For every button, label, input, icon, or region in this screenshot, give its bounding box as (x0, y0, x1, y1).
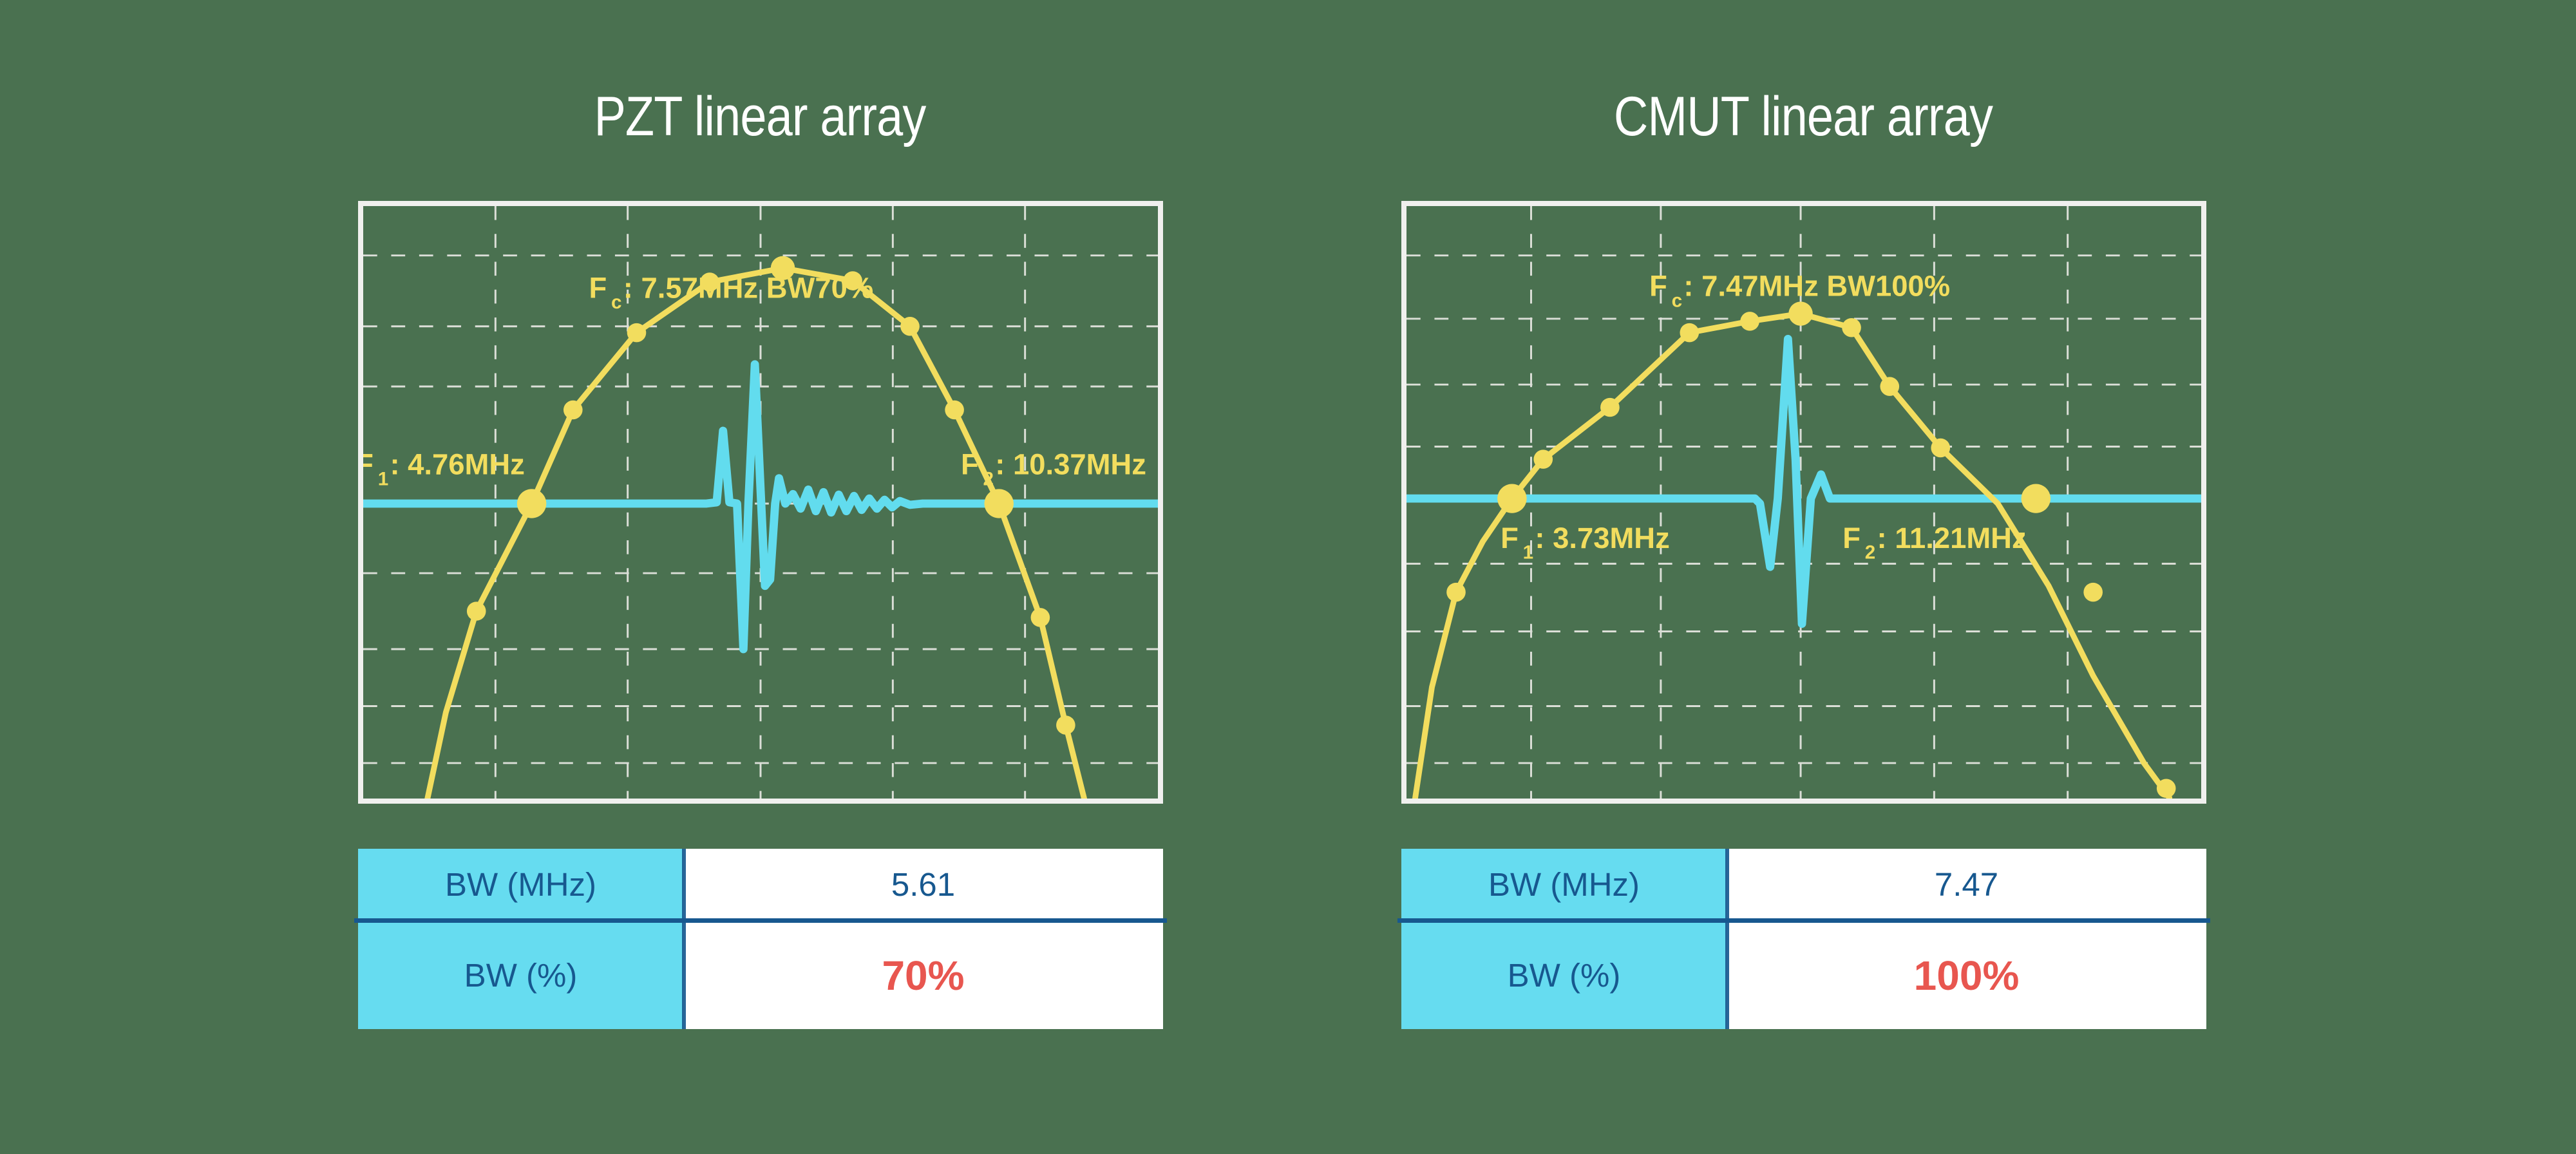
svg-text:F: F (363, 448, 374, 481)
chart-cmut: F c : 7.47MHz BW100% F 1 : 3.73MHz F 2 :… (1401, 201, 2206, 804)
svg-text:: 4.76MHz: : 4.76MHz (390, 448, 524, 481)
page-title-pzt: PZT linear array (289, 89, 1231, 144)
bw-table-pzt: BW (MHz) 5.61 BW (%) 70% (358, 849, 1163, 1029)
svg-text:F: F (1501, 522, 1519, 554)
table-column-divider (1725, 849, 1729, 1029)
frequency-spectrum-pzt (424, 256, 1088, 799)
bw-mhz-label: BW (MHz) (358, 849, 683, 920)
table-row-divider (354, 918, 1167, 923)
bw-mhz-value: 7.47 (1727, 849, 2206, 920)
svg-text:F: F (961, 448, 979, 481)
svg-text:c: c (611, 292, 621, 313)
svg-text:1: 1 (378, 469, 388, 490)
chart-cmut-svg: F c : 7.47MHz BW100% F 1 : 3.73MHz F 2 :… (1406, 206, 2201, 799)
panel-pzt: PZT linear array (213, 0, 1307, 1154)
svg-text:2: 2 (983, 469, 994, 490)
chart-pzt-svg: F c : 7.57MHz BW70% F 1 : 4.76MHz F 2 : … (363, 206, 1158, 799)
table-column-divider (682, 849, 686, 1029)
table-row: BW (%) 100% (1401, 922, 2206, 1029)
bw-mhz-label: BW (MHz) (1401, 849, 1727, 920)
bw-mhz-value: 5.61 (683, 849, 1163, 920)
svg-text:: 10.37MHz: : 10.37MHz (995, 448, 1146, 481)
slide-canvas: PZT linear array (0, 0, 2576, 1154)
bw-percent-value: 100% (1727, 922, 2206, 1029)
annotation-upper-cutoff-cmut: F 2 : 11.21MHz (1842, 522, 2026, 563)
table-row: BW (MHz) 5.61 (358, 849, 1163, 920)
annotation-lower-cutoff-cmut: F 1 : 3.73MHz (1501, 522, 1670, 563)
chart-pzt: F c : 7.57MHz BW70% F 1 : 4.76MHz F 2 : … (358, 201, 1163, 804)
bw-percent-label: BW (%) (1401, 922, 1727, 1029)
bw-table-cmut: BW (MHz) 7.47 BW (%) 100% (1401, 849, 2206, 1029)
bw-percent-value: 70% (683, 922, 1163, 1029)
spectrum-markers-pzt (467, 256, 1075, 735)
table-row: BW (%) 70% (358, 922, 1163, 1029)
svg-text:F: F (589, 272, 607, 305)
bw-percent-label: BW (%) (358, 922, 683, 1029)
svg-text:c: c (1672, 290, 1682, 311)
svg-text:2: 2 (1865, 542, 1875, 563)
annotation-upper-cutoff-pzt: F 2 : 10.37MHz (961, 448, 1146, 490)
table-row: BW (MHz) 7.47 (1401, 849, 2206, 920)
table-row-divider (1397, 918, 2210, 923)
page-title-cmut: CMUT linear array (1332, 89, 2274, 144)
svg-text:: 11.21MHz: : 11.21MHz (1877, 522, 2027, 554)
annotation-center-frequency-pzt: F c : 7.57MHz BW70% (589, 272, 873, 314)
annotation-lower-cutoff-pzt: F 1 : 4.76MHz (363, 448, 525, 490)
panel-cmut: CMUT linear array (1256, 0, 2351, 1154)
svg-text:F: F (1842, 522, 1861, 554)
svg-text:: 7.57MHz BW70%: : 7.57MHz BW70% (623, 272, 873, 305)
svg-text:F: F (1649, 270, 1667, 303)
svg-text:: 3.73MHz: : 3.73MHz (1535, 522, 1669, 554)
svg-text:1: 1 (1523, 542, 1533, 563)
svg-text:: 7.47MHz BW100%: : 7.47MHz BW100% (1683, 270, 1950, 303)
